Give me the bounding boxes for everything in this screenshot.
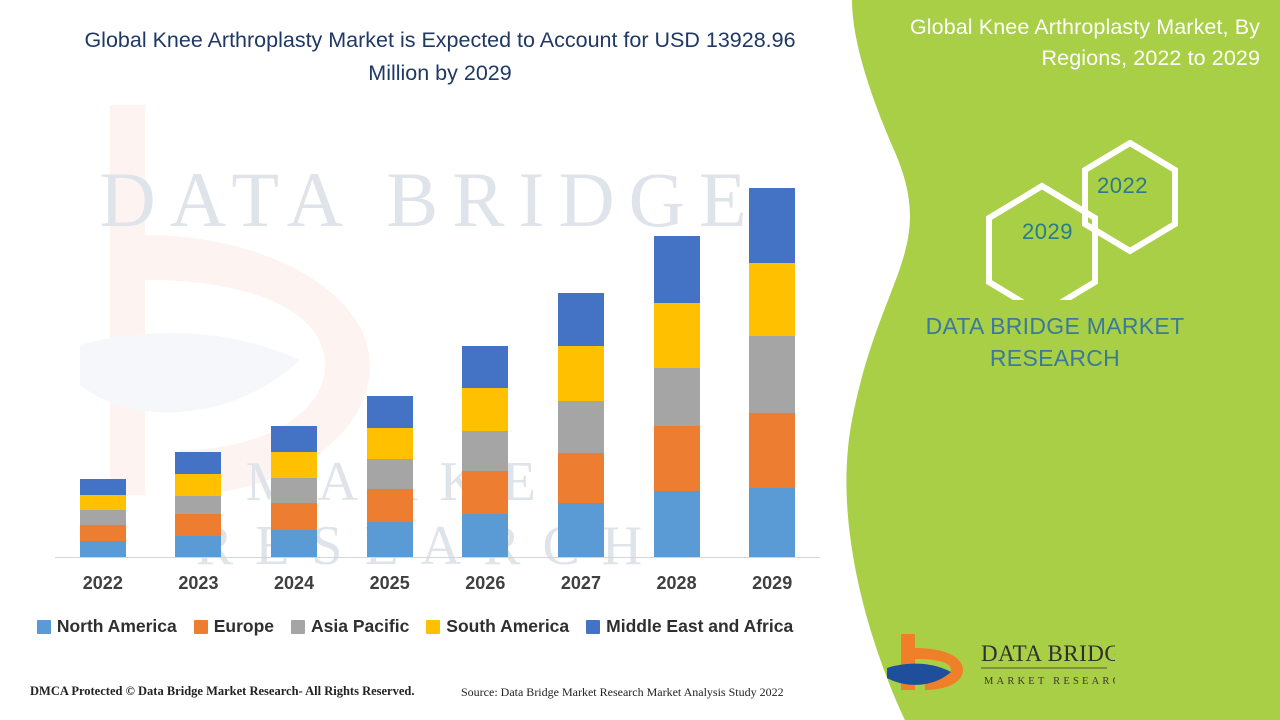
bar-2026 — [462, 346, 508, 558]
legend-swatch-icon — [37, 620, 51, 634]
legend-item[interactable]: Asia Pacific — [291, 616, 409, 637]
legend-label: Asia Pacific — [311, 616, 409, 637]
bar-segment — [271, 503, 317, 530]
x-axis-tick-2029: 2029 — [727, 573, 817, 594]
bar-segment — [462, 514, 508, 558]
svg-text:DATA BRIDGE: DATA BRIDGE — [981, 641, 1115, 666]
bar-segment — [271, 452, 317, 478]
bar-segment — [749, 263, 795, 336]
bar-segment — [749, 336, 795, 413]
bar-segment — [558, 346, 604, 401]
bar-segment — [80, 541, 126, 558]
data-bridge-logo-icon: DATA BRIDGE MARKET RESEARCH — [885, 628, 1115, 698]
footer-copyright: DMCA Protected © Data Bridge Market Rese… — [30, 684, 415, 699]
legend-swatch-icon — [291, 620, 305, 634]
x-axis-tick-2026: 2026 — [440, 573, 530, 594]
bar-segment — [558, 453, 604, 503]
hexagon-label-2022: 2022 — [1097, 173, 1148, 199]
legend-label: Middle East and Africa — [606, 616, 793, 637]
x-axis-labels: 20222023202420252026202720282029 — [55, 573, 820, 599]
bar-segment — [175, 452, 221, 474]
bar-segment — [80, 525, 126, 541]
bar-segment — [367, 396, 413, 428]
bar-segment — [558, 401, 604, 453]
x-axis-tick-2027: 2027 — [536, 573, 626, 594]
hexagon-label-2029: 2029 — [1022, 219, 1073, 245]
data-bridge-logo: DATA BRIDGE MARKET RESEARCH — [885, 628, 1115, 698]
bar-segment — [462, 431, 508, 471]
x-axis-tick-2023: 2023 — [153, 573, 243, 594]
chart-title: Global Knee Arthroplasty Market is Expec… — [60, 24, 820, 90]
legend-item[interactable]: Middle East and Africa — [586, 616, 793, 637]
bar-2027 — [558, 293, 604, 558]
bar-segment — [654, 426, 700, 491]
bar-2028 — [654, 236, 700, 558]
bar-segment — [367, 428, 413, 459]
chart-legend: North AmericaEuropeAsia PacificSouth Ame… — [0, 616, 830, 637]
legend-item[interactable]: South America — [426, 616, 569, 637]
x-axis-line — [55, 557, 820, 558]
bar-segment — [654, 303, 700, 368]
bar-segment — [462, 471, 508, 514]
x-axis-tick-2022: 2022 — [58, 573, 148, 594]
bar-segment — [80, 495, 126, 510]
x-axis-tick-2024: 2024 — [249, 573, 339, 594]
bar-segment — [80, 479, 126, 495]
legend-label: North America — [57, 616, 177, 637]
bar-2024 — [271, 426, 317, 558]
bar-segment — [558, 293, 604, 346]
bar-segment — [367, 522, 413, 558]
svg-text:MARKET RESEARCH: MARKET RESEARCH — [984, 676, 1115, 687]
x-axis-tick-2028: 2028 — [632, 573, 722, 594]
bar-segment — [175, 536, 221, 558]
bar-2023 — [175, 452, 221, 558]
bar-segment — [749, 488, 795, 558]
bar-segment — [175, 514, 221, 536]
chart-plot-area — [55, 170, 820, 558]
bar-segment — [654, 368, 700, 426]
bar-segment — [80, 510, 126, 525]
legend-label: Europe — [214, 616, 274, 637]
legend-swatch-icon — [194, 620, 208, 634]
legend-swatch-icon — [426, 620, 440, 634]
green-panel-content: Global Knee Arthroplasty Market, By Regi… — [830, 0, 1280, 720]
bar-segment — [654, 236, 700, 303]
legend-item[interactable]: North America — [37, 616, 177, 637]
bar-segment — [749, 188, 795, 263]
bar-2025 — [367, 396, 413, 558]
legend-item[interactable]: Europe — [194, 616, 274, 637]
brand-name: DATA BRIDGE MARKET RESEARCH — [870, 310, 1240, 374]
x-axis-tick-2025: 2025 — [345, 573, 435, 594]
bar-segment — [462, 346, 508, 388]
legend-label: South America — [446, 616, 569, 637]
infographic-root: DATA BRIDGE MARKET RESEARCH Global Knee … — [0, 0, 1280, 720]
bar-segment — [271, 426, 317, 452]
bar-segment — [654, 491, 700, 558]
hexagon-shapes-icon — [980, 140, 1210, 300]
bar-segment — [271, 530, 317, 558]
bar-segment — [175, 496, 221, 514]
bar-segment — [749, 413, 795, 488]
hexagon-group — [980, 140, 1210, 300]
panel-title: Global Knee Arthroplasty Market, By Regi… — [890, 12, 1260, 74]
bar-2022 — [80, 479, 126, 558]
bar-segment — [462, 388, 508, 431]
bar-segment — [558, 503, 604, 558]
legend-swatch-icon — [586, 620, 600, 634]
bar-2029 — [749, 188, 795, 558]
bar-segment — [271, 478, 317, 503]
footer-source: Source: Data Bridge Market Research Mark… — [461, 685, 784, 700]
bar-segment — [367, 489, 413, 522]
bar-segment — [175, 474, 221, 496]
bar-segment — [367, 459, 413, 489]
